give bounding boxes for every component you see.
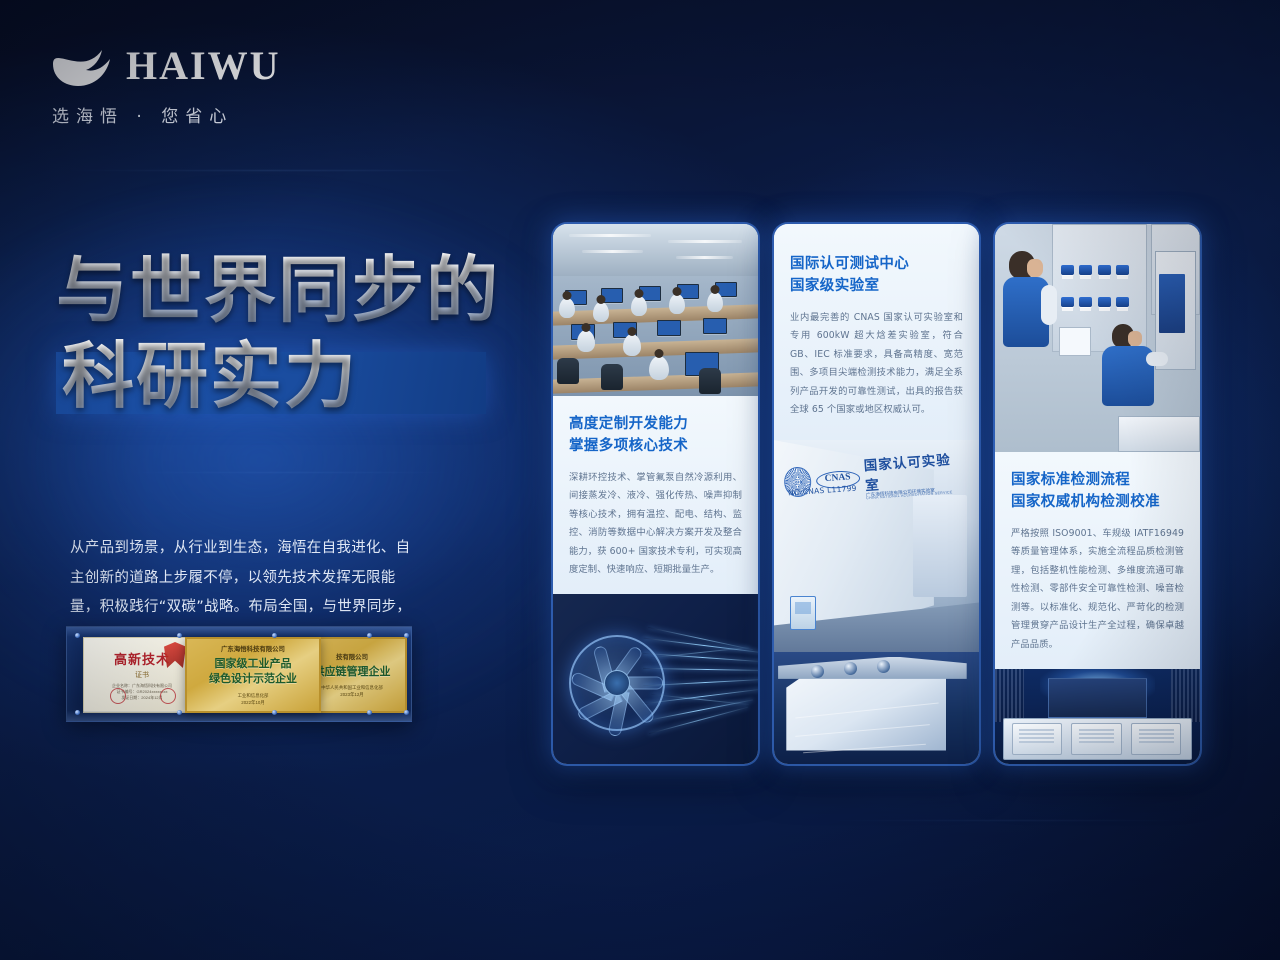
quality-inspection-engineers-photo	[995, 224, 1200, 452]
brand-logo[interactable]: HAIWU 选海悟 · 您省心	[50, 44, 280, 127]
headline-line-2-wrap: 科研实力	[56, 336, 376, 418]
cnas-laboratory-corridor-photo: CNAS 国家认可实验室 CHINA NATIONAL ACCREDITATIO…	[774, 440, 979, 652]
certificate-company: 技有限公司	[336, 652, 368, 661]
card-title-line-1: 国际认可测试中心	[790, 254, 963, 276]
card-body-text: 深耕环控技术、掌管氟泵自然冷源利用、间接蒸发冷、液冷、强化传热、噪声抑制等核心技…	[569, 469, 742, 581]
card-body-text: 严格按照 ISO9001、车规级 IATF16949 等质量管理体系，实施全流程…	[1011, 525, 1184, 655]
certificate-subtitle: 证书	[135, 670, 149, 680]
light-streak	[820, 820, 1200, 821]
certificate-green-design: 广东海悟科技有限公司 国家级工业产品 绿色设计示范企业 工业和信息化部 2022…	[185, 637, 321, 713]
certificate-title: 国家级工业产品	[215, 657, 292, 672]
card-title-line-2: 国家权威机构检测校准	[1011, 492, 1184, 514]
red-stamp-icon	[110, 688, 126, 704]
brand-tagline: 选海悟 · 您省心	[52, 102, 280, 127]
card-text-block: 高度定制开发能力 掌握多项核心技术 深耕环控技术、掌管氟泵自然冷源利用、间接蒸发…	[553, 396, 758, 594]
card-national-testing-process[interactable]: 国家标准检测流程 国家权威机构检测校准 严格按照 ISO9001、车规级 IAT…	[995, 224, 1200, 764]
certificate-footer: 中华人民共和国工业和信息化部 2023年12月	[321, 684, 382, 698]
red-stamp-icon	[160, 688, 176, 704]
card-title-line-1: 国家标准检测流程	[1011, 470, 1184, 492]
certificate-subtitle: 供应链管理企业	[314, 665, 391, 680]
card-title-line-2: 国家级实验室	[790, 276, 963, 298]
air-handling-unit-photo	[774, 652, 979, 764]
headline-line-1: 与世界同步的	[56, 252, 500, 330]
card-title-line-2: 掌握多项核心技术	[569, 436, 742, 458]
certificate-company: 广东海悟科技有限公司	[221, 644, 285, 653]
engineering-office-photo	[553, 224, 758, 396]
card-international-testing-center[interactable]: 国际认可测试中心 国家级实验室 业内最完善的 CNAS 国家认可实验室和专用 6…	[774, 224, 979, 764]
card-text-block: 国家标准检测流程 国家权威机构检测校准 严格按照 ISO9001、车规级 IAT…	[995, 452, 1200, 669]
wall-control-panel-icon	[790, 596, 816, 630]
light-streak	[120, 472, 460, 473]
fan-airflow-simulation-render	[553, 594, 758, 764]
poster-stage: HAIWU 选海悟 · 您省心 与世界同步的 科研实力 从产品到场景，从行业到生…	[0, 0, 1280, 960]
wave-leaf-logo-icon	[50, 44, 112, 88]
card-custom-development[interactable]: 高度定制开发能力 掌握多项核心技术 深耕环控技术、掌管氟泵自然冷源利用、间接蒸发…	[553, 224, 758, 764]
card-body-text: 业内最完善的 CNAS 国家认可实验室和专用 600kW 超大焓差实验室，符合 …	[790, 309, 963, 421]
capability-cards: 高度定制开发能力 掌握多项核心技术 深耕环控技术、掌管氟泵自然冷源利用、间接蒸发…	[553, 224, 1201, 764]
fan-ring-icon	[569, 635, 665, 731]
certificate-footer: 工业和信息化部 2022年10月	[238, 692, 269, 706]
brand-name: HAIWU	[126, 46, 280, 86]
environmental-test-chamber-photo	[995, 669, 1200, 764]
certificate-title: 高新技术	[114, 649, 170, 668]
ribbon-icon	[164, 642, 186, 668]
certificate-wall[interactable]: 高新技术 证书 企业名称：广东海悟科技有限公司 证书编号：GR2024xxxxx…	[66, 626, 412, 722]
headline-line-2: 科研实力	[62, 338, 358, 416]
card-title-line-1: 高度定制开发能力	[569, 414, 742, 436]
certificate-high-tech: 高新技术 证书 企业名称：广东海悟科技有限公司 证书编号：GR2024xxxxx…	[83, 637, 201, 713]
card-text-block: 国际认可测试中心 国家级实验室 业内最完善的 CNAS 国家认可实验室和专用 6…	[774, 224, 979, 440]
light-streak	[60, 170, 480, 171]
page-title: 与世界同步的 科研实力	[56, 252, 500, 418]
certificate-subtitle: 绿色设计示范企业	[209, 672, 297, 687]
cnas-plaque-title: 国家认可实验室	[863, 448, 955, 494]
